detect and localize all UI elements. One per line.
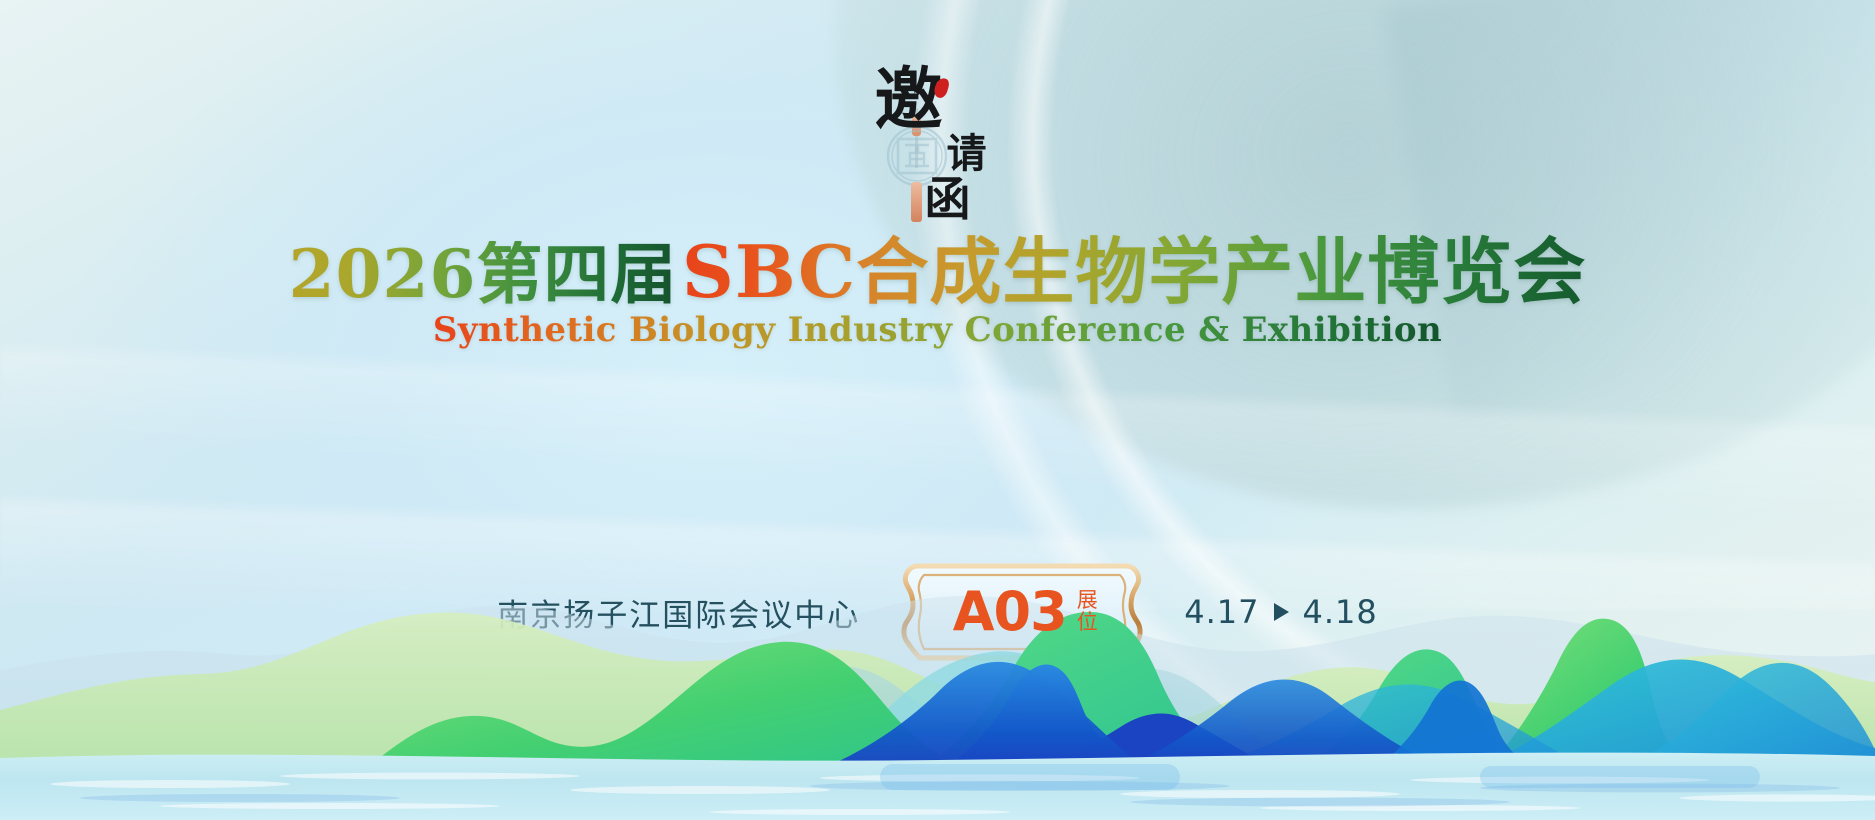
headline-subtitle-english: Synthetic Biology Industry Conference & … — [433, 312, 1442, 349]
headline-block: 2026第四届 SBC合成生物学产业博览会 Synthetic Biology … — [0, 238, 1875, 349]
booth-label: 展 位 — [1077, 590, 1098, 635]
invitation-mark: 邀 请 函 — [0, 72, 1875, 222]
tassel-tail-icon — [911, 182, 922, 222]
booth-number: A03 — [953, 585, 1067, 639]
headline-line-1: 2026第四届 — [289, 241, 678, 308]
booth-label-char-2: 位 — [1077, 612, 1098, 634]
headline-line-2: SBC合成生物学产业博览会 — [682, 234, 1587, 310]
invitation-poster: 邀 请 函 2026第四届 SBC合成生物学产业博览会 Synthetic Bi… — [0, 0, 1875, 820]
invitation-char-yao: 邀 — [875, 66, 943, 134]
mountain-landscape — [0, 550, 1875, 820]
invitation-char-han: 函 — [925, 176, 971, 222]
booth-label-char-1: 展 — [1077, 590, 1098, 612]
invitation-char-qing: 请 — [947, 134, 987, 174]
